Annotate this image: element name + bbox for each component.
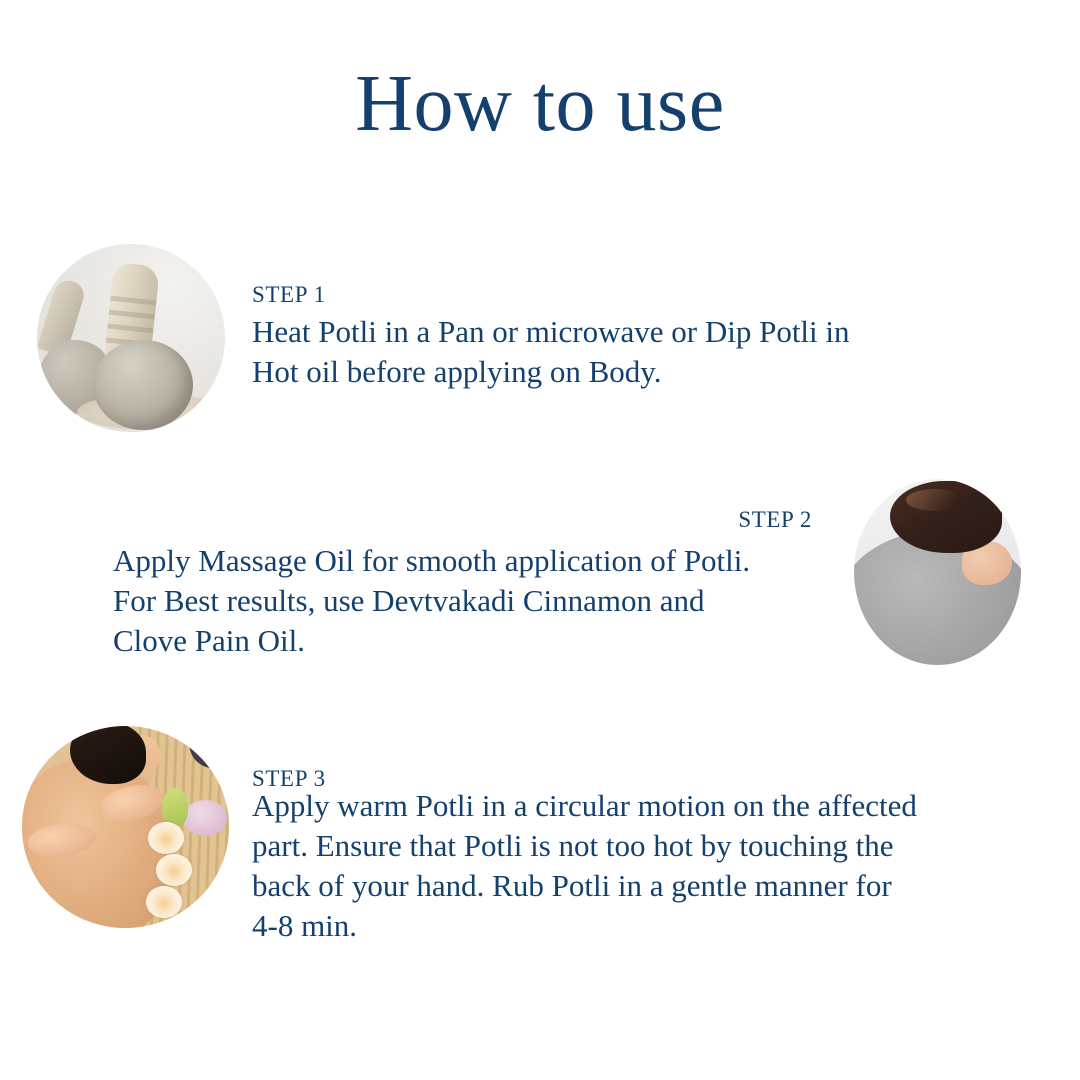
- step-3-body: Apply warm Potli in a circular motion on…: [252, 786, 917, 946]
- potli-wrap-line: [109, 310, 155, 320]
- potli-wrap-line: [110, 296, 156, 306]
- step-2-label: STEP 2: [612, 507, 812, 533]
- orchid-flower: [148, 822, 184, 854]
- step-2-body: Apply Massage Oil for smooth application…: [113, 541, 750, 661]
- potli-bag-front: [93, 340, 193, 430]
- step-2-body-line: Clove Pain Oil.: [113, 621, 750, 661]
- orchid-stem: [162, 788, 188, 826]
- spa-bowl: [183, 800, 227, 836]
- step-1-label: STEP 1: [252, 282, 326, 308]
- step-3-body-line: 4-8 min.: [252, 906, 917, 946]
- orchid-flower: [156, 854, 192, 886]
- step-1-body: Heat Potli in a Pan or microwave or Dip …: [252, 312, 850, 392]
- step-1-body-line: Heat Potli in a Pan or microwave or Dip …: [252, 312, 850, 352]
- orchid-flower: [146, 886, 182, 918]
- step-2-body-line: For Best results, use Devtvakadi Cinnamo…: [113, 581, 750, 621]
- step-1-image-potli-herbal-compress-bags: [37, 244, 225, 432]
- step-2-body-line: Apply Massage Oil for smooth application…: [113, 541, 750, 581]
- step-3-body-line: back of your hand. Rub Potli in a gentle…: [252, 866, 917, 906]
- step-2-image-neck-pain: [854, 479, 1021, 665]
- page-title: How to use: [0, 62, 1080, 146]
- step-1-body-line: Hot oil before applying on Body.: [252, 352, 850, 392]
- step-3-image-back-massage: [22, 726, 229, 928]
- how-to-use-page: How to use STEP 1 Heat Potli in a Pan or…: [0, 0, 1080, 1080]
- potli-wrap-line: [107, 324, 153, 334]
- step-3-body-line: part. Ensure that Potli is not too hot b…: [252, 826, 917, 866]
- hair-highlight: [906, 489, 964, 511]
- step-3-body-line: Apply warm Potli in a circular motion on…: [252, 786, 917, 826]
